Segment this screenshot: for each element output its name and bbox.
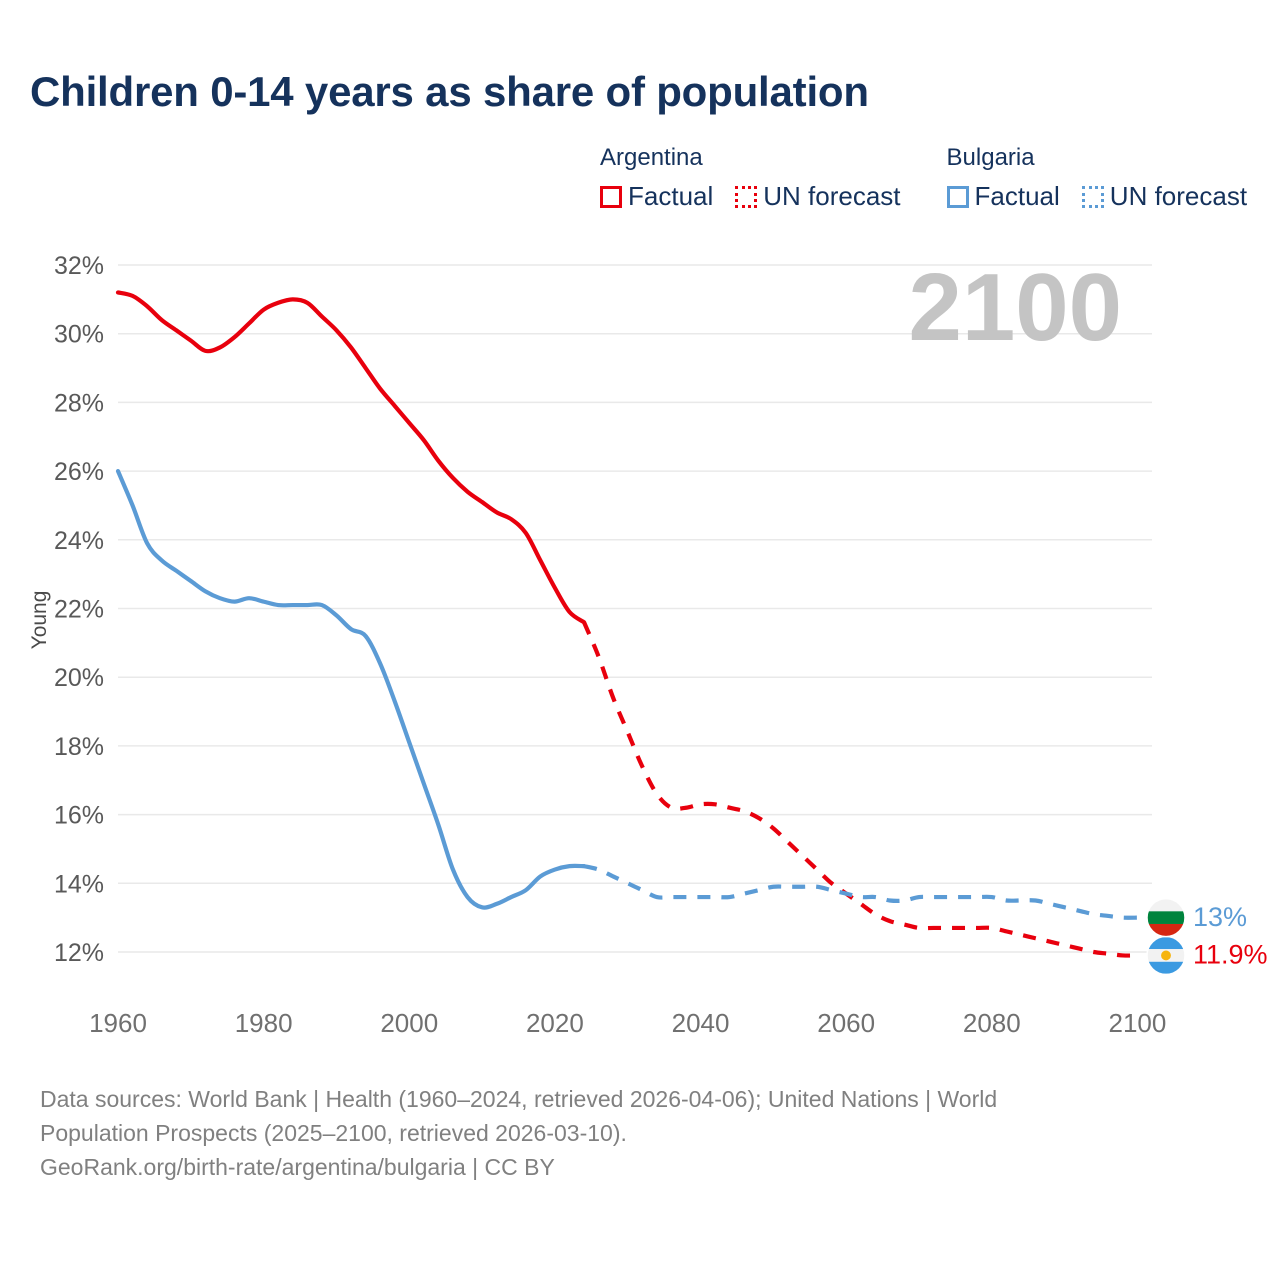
series-line-bulgaria-forecast: [584, 866, 1137, 918]
series-line-argentina-factual: [118, 292, 584, 622]
x-axis-tick-label: 2100: [1109, 1008, 1167, 1038]
footer-line-3[interactable]: GeoRank.org/birth-rate/argentina/bulgari…: [40, 1150, 1240, 1184]
y-axis-tick-label: 20%: [54, 664, 104, 692]
y-axis-tick-label: 14%: [54, 870, 104, 898]
y-axis-tick-label: 28%: [54, 389, 104, 417]
y-axis-tick-label: 30%: [54, 321, 104, 349]
x-axis-tick-label: 2020: [526, 1008, 584, 1038]
x-axis-tick-label: 2060: [817, 1008, 875, 1038]
y-axis-tick-label: 12%: [54, 939, 104, 967]
x-axis-tick-label: 1980: [235, 1008, 293, 1038]
chart-page: Children 0-14 years as share of populati…: [0, 0, 1280, 1280]
x-axis-tick-label: 2080: [963, 1008, 1021, 1038]
argentina-flag-icon: [1147, 936, 1185, 974]
end-label-bulgaria: 13%: [1193, 902, 1247, 932]
footer-sources: Data sources: World Bank | Health (1960–…: [40, 1082, 1240, 1184]
line-chart-svg: 12%14%16%18%20%22%24%26%28%30%32% 196019…: [0, 0, 1280, 1070]
series-lines: [118, 292, 1137, 955]
y-axis-tick-label: 26%: [54, 458, 104, 486]
y-axis-tick-label: 24%: [54, 527, 104, 555]
plot-area: 12%14%16%18%20%22%24%26%28%30%32% 196019…: [0, 0, 1280, 1070]
x-axis-tick-label: 1960: [89, 1008, 147, 1038]
footer-line-2: Population Prospects (2025–2100, retriev…: [40, 1116, 1240, 1150]
x-axis-tick-labels: 19601980200020202040206020802100: [89, 1008, 1166, 1038]
y-axis-tick-label: 22%: [54, 596, 104, 624]
y-axis-tick-label: 32%: [54, 252, 104, 280]
series-end-markers: 11.9%13%: [1147, 899, 1268, 975]
x-axis-tick-label: 2040: [672, 1008, 730, 1038]
end-label-argentina: 11.9%: [1193, 940, 1268, 970]
x-axis-tick-label: 2000: [380, 1008, 438, 1038]
series-line-bulgaria-factual: [118, 471, 584, 908]
y-axis-tick-labels: 12%14%16%18%20%22%24%26%28%30%32%: [54, 252, 104, 967]
y-axis-title: Young: [28, 591, 51, 650]
y-axis-tick-label: 18%: [54, 733, 104, 761]
y-axis-tick-label: 16%: [54, 802, 104, 830]
bulgaria-flag-icon: [1147, 899, 1185, 937]
footer-line-1: Data sources: World Bank | Health (1960–…: [40, 1082, 1240, 1116]
gridlines: [118, 265, 1152, 952]
year-watermark: 2100: [908, 254, 1122, 361]
